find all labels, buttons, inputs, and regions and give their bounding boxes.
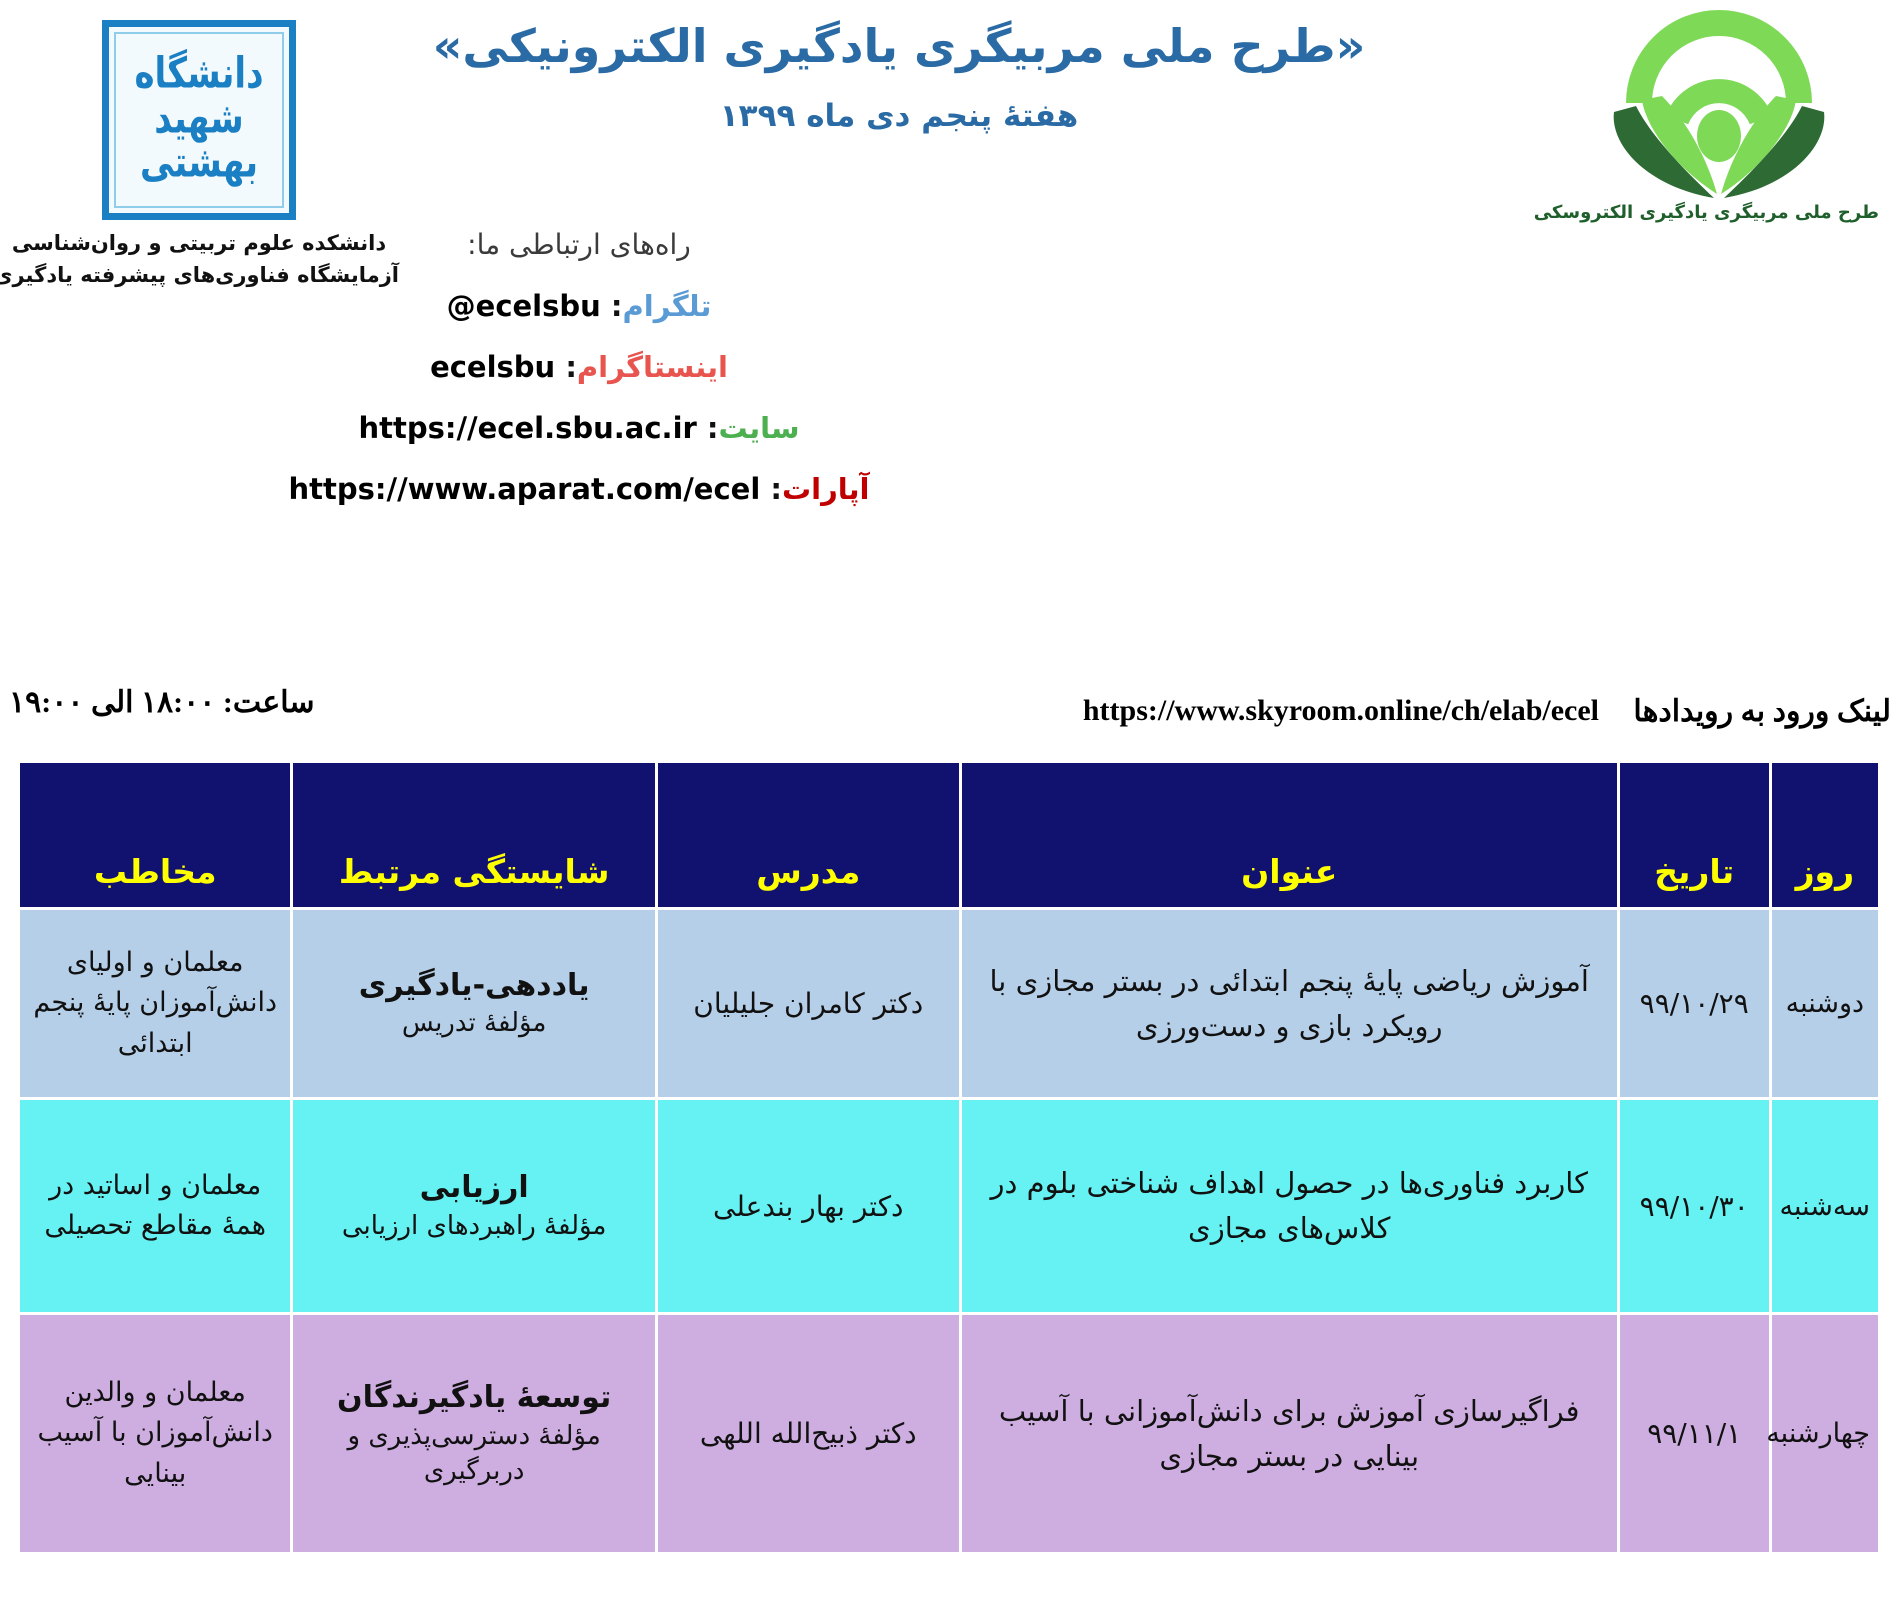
cell-day: دوشنبه bbox=[1771, 909, 1880, 1099]
cell-date: ۹۹/۱۰/۳۰ bbox=[1619, 1099, 1771, 1314]
event-link-url[interactable]: https://www.skyroom.online/ch/elab/ecel bbox=[1084, 694, 1600, 728]
table-row: دوشنبه ۹۹/۱۰/۲۹ آموزش ریاضی پایۀ پنجم اب… bbox=[20, 909, 1881, 1099]
contact-label-telegram: تلگرام bbox=[624, 289, 713, 323]
cell-competency: یاددهی-یادگیری مؤلفۀ تدریس bbox=[293, 909, 658, 1099]
event-link-strip: لینک ورود به رویدادها https://www.skyroo… bbox=[0, 690, 1900, 746]
schedule-table-head: روز تاریخ عنوان مدرس شایستگی مرتبط مخاطب bbox=[20, 762, 1881, 909]
page-subtitle: هفتۀ پنجم دی ماه ۱۳۹۹ bbox=[400, 98, 1400, 134]
contact-value-instagram[interactable]: ecelsbu bbox=[431, 350, 556, 384]
column-header-audience: مخاطب bbox=[20, 762, 293, 909]
event-link-label: لینک ورود به رویدادها bbox=[1634, 694, 1892, 729]
column-header-lecturer: مدرس bbox=[657, 762, 961, 909]
cell-day: چهارشنبه bbox=[1771, 1314, 1880, 1554]
cell-date: ۹۹/۱۰/۲۹ bbox=[1619, 909, 1771, 1099]
competency-main: توسعۀ یادگیرندگان bbox=[302, 1378, 648, 1419]
event-time-text: ساعت: ۱۸:۰۰ الی ۱۹:۰۰ bbox=[10, 684, 410, 722]
column-header-day: روز bbox=[1771, 762, 1880, 909]
column-header-title: عنوان bbox=[961, 762, 1619, 909]
cell-competency: توسعۀ یادگیرندگان مؤلفۀ دسترسی‌پذیری و د… bbox=[293, 1314, 658, 1554]
table-row: سه‌شنبه ۹۹/۱۰/۳۰ کاربرد فناوری‌ها در حصو… bbox=[20, 1099, 1881, 1314]
cell-title: آموزش ریاضی پایۀ پنجم ابتدائی در بستر مج… bbox=[961, 909, 1619, 1099]
contact-row-website: سایت: https://ecel.sbu.ac.ir bbox=[0, 411, 1160, 445]
contact-separator: : bbox=[612, 289, 624, 323]
ecel-logo-caption: طرح ملی مربیگری یادگیری الکتروسکی bbox=[1560, 202, 1880, 223]
schedule-table-wrapper: روز تاریخ عنوان مدرس شایستگی مرتبط مخاطب… bbox=[18, 760, 1882, 1555]
competency-sub: مؤلفۀ دسترسی‌پذیری و دربرگیری bbox=[302, 1419, 648, 1489]
contact-label-website: سایت bbox=[720, 411, 801, 445]
sbu-logo-calligraphy: دانشگاه شهید بهشتی bbox=[117, 53, 283, 187]
cell-lecturer: دکتر بهار بندعلی bbox=[657, 1099, 961, 1314]
table-row: چهارشنبه ۹۹/۱۱/۱ فراگیرسازی آموزش برای د… bbox=[20, 1314, 1881, 1554]
page-title: «طرح ملی مربیگری یادگیری الکترونیکی» bbox=[400, 18, 1400, 76]
contact-value-aparat[interactable]: https://www.aparat.com/ecel bbox=[290, 472, 762, 506]
cell-audience: معلمان و اولیای دانش‌آموزان پایۀ پنجم اب… bbox=[20, 909, 293, 1099]
contact-value-telegram[interactable]: @ecelsbu bbox=[448, 289, 602, 323]
competency-sub: مؤلفۀ تدریس bbox=[302, 1006, 648, 1041]
cell-competency: ارزیابی مؤلفۀ راهبردهای ارزیابی bbox=[293, 1099, 658, 1314]
contact-label-instagram: اینستاگرام bbox=[578, 350, 729, 384]
table-header-row: روز تاریخ عنوان مدرس شایستگی مرتبط مخاطب bbox=[20, 762, 1881, 909]
contact-row-telegram: تلگرام: @ecelsbu bbox=[0, 289, 1160, 323]
cell-title: فراگیرسازی آموزش برای دانش‌آموزانی با آس… bbox=[961, 1314, 1619, 1554]
schedule-table: روز تاریخ عنوان مدرس شایستگی مرتبط مخاطب… bbox=[18, 760, 1882, 1555]
contact-row-aparat: آپارات: https://www.aparat.com/ecel bbox=[0, 472, 1160, 506]
schedule-table-body: دوشنبه ۹۹/۱۰/۲۹ آموزش ریاضی پایۀ پنجم اب… bbox=[20, 909, 1881, 1554]
cell-audience: معلمان و اساتید در همۀ مقاطع تحصیلی bbox=[20, 1099, 293, 1314]
cell-day: سه‌شنبه bbox=[1771, 1099, 1880, 1314]
contact-row-instagram: اینستاگرام: ecelsbu bbox=[0, 350, 1160, 384]
contact-separator: : bbox=[771, 472, 783, 506]
cell-title: کاربرد فناوری‌ها در حصول اهداف شناختی بل… bbox=[961, 1099, 1619, 1314]
contact-block: راه‌های ارتباطی ما: تلگرام: @ecelsbu این… bbox=[0, 228, 1160, 533]
column-header-date: تاریخ bbox=[1619, 762, 1771, 909]
cell-audience: معلمان و والدین دانش‌آموزان با آسیب بینا… bbox=[20, 1314, 293, 1554]
ecel-logo-block: طرح ملی مربیگری یادگیری الکتروسکی bbox=[1560, 8, 1880, 223]
competency-sub: مؤلفۀ راهبردهای ارزیابی bbox=[302, 1209, 648, 1244]
contact-separator: : bbox=[566, 350, 578, 384]
contact-heading: راه‌های ارتباطی ما: bbox=[0, 228, 1160, 261]
contact-value-website[interactable]: https://ecel.sbu.ac.ir bbox=[359, 411, 697, 445]
contact-separator: : bbox=[708, 411, 720, 445]
cell-lecturer: دکتر کامران جلیلیان bbox=[657, 909, 961, 1099]
cell-date: ۹۹/۱۱/۱ bbox=[1619, 1314, 1771, 1554]
ecel-hands-wifi-logo-icon bbox=[1585, 8, 1855, 198]
column-header-competency: شایستگی مرتبط bbox=[293, 762, 658, 909]
competency-main: ارزیابی bbox=[302, 1168, 648, 1209]
competency-main: یاددهی-یادگیری bbox=[302, 966, 648, 1007]
cell-lecturer: دکتر ذبیح‌الله اللهی bbox=[657, 1314, 961, 1554]
sbu-logo-inner-frame: دانشگاه شهید بهشتی bbox=[115, 32, 285, 208]
shahid-beheshti-university-logo-icon: دانشگاه شهید بهشتی bbox=[103, 20, 297, 220]
title-block: «طرح ملی مربیگری یادگیری الکترونیکی» هفت… bbox=[400, 18, 1400, 134]
contact-label-aparat: آپارات bbox=[783, 472, 871, 506]
